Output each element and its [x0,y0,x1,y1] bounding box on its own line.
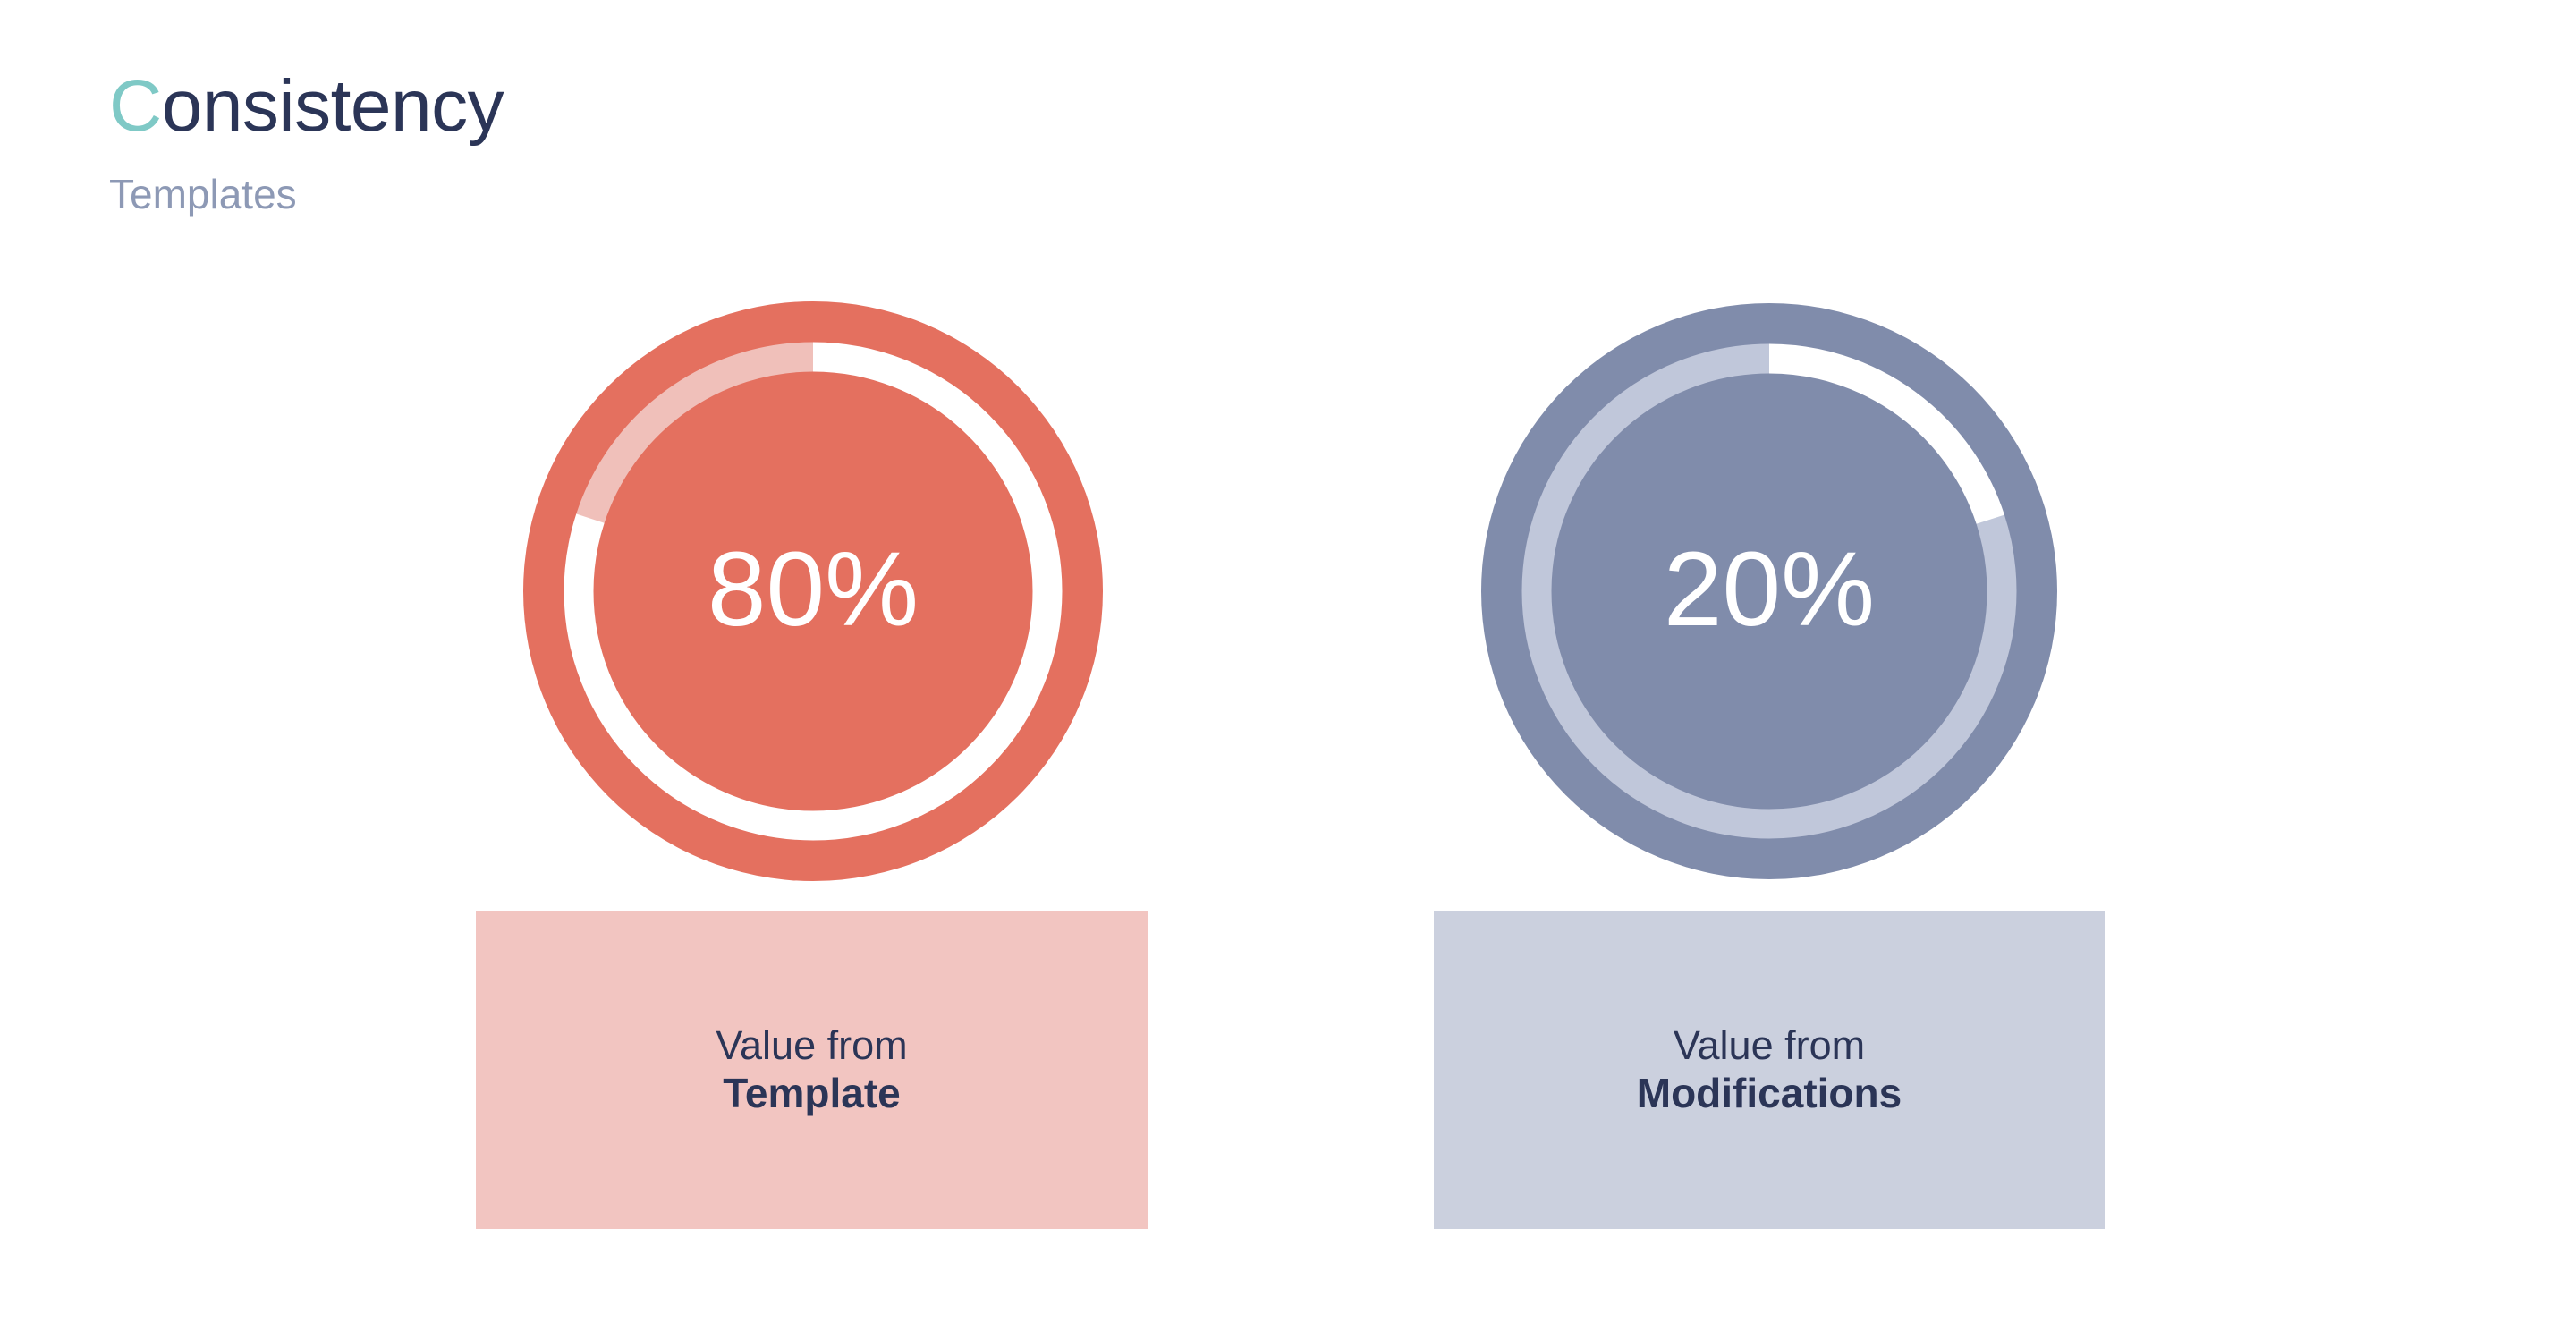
page-title: Consistency [109,70,1182,143]
donut-gauge-modifications[interactable]: 20% [1481,303,2057,879]
caption-panel-template[interactable]: Value from Template [476,911,1148,1229]
heading-block: Consistency Templates [109,70,1182,215]
gauge-disc-modifications [1481,303,2057,879]
donut-gauge-template[interactable]: 80% [523,301,1103,881]
donut-gauge-modifications-svg [1481,303,2057,879]
gauge-disc-template [523,301,1103,881]
caption-modifications-line-bottom: Modifications [1637,1069,1902,1117]
caption-modifications-line-top: Value from [1674,1022,1865,1069]
caption-template-line-top: Value from [716,1022,907,1069]
donut-gauge-template-svg [523,301,1103,881]
title-accent-letter: C [109,65,162,147]
caption-template-line-bottom: Template [723,1069,901,1117]
page-subtitle: Templates [109,174,1182,215]
slide-canvas: Consistency Templates 80% 20% Value from… [0,0,2576,1331]
title-remainder: onsistency [162,65,504,147]
caption-panel-modifications[interactable]: Value from Modifications [1434,911,2105,1229]
